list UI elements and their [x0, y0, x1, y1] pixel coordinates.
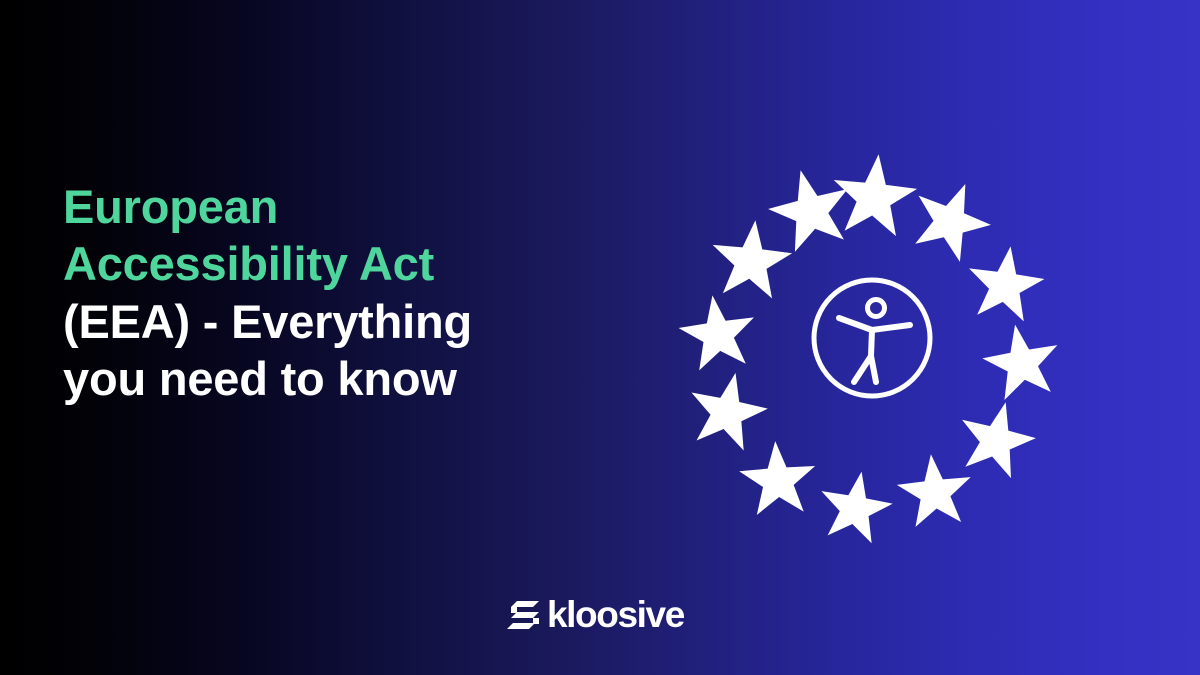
headline-line-3: (EEA) - Everything	[63, 293, 603, 350]
brand-logo[interactable]: kloosive	[506, 596, 684, 633]
headline-line-1: European	[63, 178, 603, 235]
page-title: European Accessibility Act (EEA) - Every…	[63, 178, 603, 407]
headline-line-4: you need to know	[63, 350, 603, 407]
accessibility-person-in-circle-icon	[806, 272, 938, 404]
kloosive-s-mark-icon	[506, 599, 540, 631]
banner-canvas: European Accessibility Act (EEA) - Every…	[0, 0, 1200, 675]
brand-name: kloosive	[547, 596, 684, 633]
headline-line-2: Accessibility Act	[63, 235, 603, 292]
